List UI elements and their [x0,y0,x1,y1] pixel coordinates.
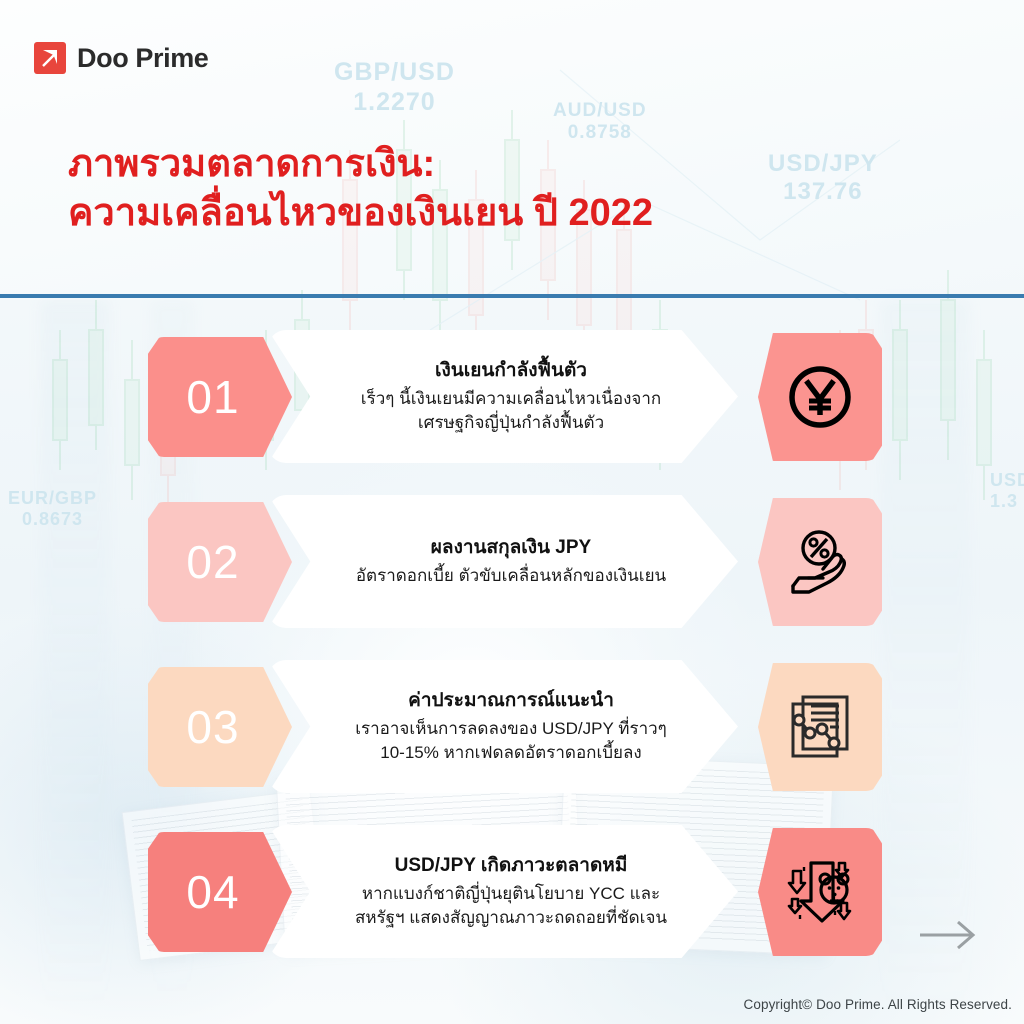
header-divider [0,294,1024,298]
item-card-01[interactable]: เงินเยนกำลังฟื้นตัว เร็วๆ นี้เงินเยนมีคว… [268,330,738,463]
item-title-02: ผลงานสกุลเงิน JPY [431,535,591,561]
list-item[interactable]: 03 ค่าประมาณการณ์แนะนำ เราอาจเห็นการลดลง… [0,660,1024,793]
yen-coin-icon [784,361,856,433]
item-number-badge-04: 04 [148,832,292,952]
item-body-line1-03: เราอาจเห็นการลดลงของ USD/JPY ที่ราวๆ [355,717,667,741]
item-card-04[interactable]: USD/JPY เกิดภาวะตลาดหมี หากแบงก์ชาติญี่ป… [268,825,738,958]
item-body-line1-01: เร็วๆ นี้เงินเยนมีความเคลื่อนไหวเนื่องจา… [361,387,661,411]
doo-prime-logo-mark-icon [34,42,66,74]
page-title: ภาพรวมตลาดการเงิน: ความเคลื่อนไหวของเงิน… [68,140,898,239]
item-card-03[interactable]: ค่าประมาณการณ์แนะนำ เราอาจเห็นการลดลงของ… [268,660,738,793]
item-body-line1-04: หากแบงก์ชาติญี่ปุ่นยุตินโยบาย YCC และ [362,882,660,906]
arrow-right-icon[interactable] [918,918,980,952]
item-number-03: 03 [186,700,239,754]
brand-logo[interactable]: Doo Prime [34,42,208,74]
page-title-line1: ภาพรวมตลาดการเงิน: [68,143,435,185]
item-number-02: 02 [186,535,239,589]
item-card-02[interactable]: ผลงานสกุลเงิน JPY อัตราดอกเบี้ย ตัวขับเค… [268,495,738,628]
watermark-quote-gbpusd: GBP/USD1.2270 [334,58,455,117]
document-line-chart-icon [784,690,856,764]
item-title-01: เงินเยนกำลังฟื้นตัว [435,358,587,384]
watermark-quote-audusd: AUD/USD0.8758 [553,100,647,145]
item-icon-badge-03 [758,663,882,791]
bear-market-down-arrow-icon [783,855,857,929]
item-icon-badge-01 [758,333,882,461]
item-body-line2-04: สหรัฐฯ แสดงสัญญาณภาวะถดถอยที่ชัดเจน [355,906,667,930]
item-number-badge-01: 01 [148,337,292,457]
page-title-line2: ความเคลื่อนไหวของเงินเยน ปี 2022 [68,189,898,238]
item-number-badge-02: 02 [148,502,292,622]
item-icon-badge-02 [758,498,882,626]
item-number-badge-03: 03 [148,667,292,787]
item-number-01: 01 [186,370,239,424]
list-item[interactable]: 04 USD/JPY เกิดภาวะตลาดหมี หากแบงก์ชาติญ… [0,825,1024,958]
item-title-03: ค่าประมาณการณ์แนะนำ [408,688,614,714]
brand-logo-text: Doo Prime [77,43,208,74]
item-body-line2-03: 10-15% หากเฟดลดอัตราดอกเบี้ยลง [380,741,641,765]
items-list: 01 เงินเยนกำลังฟื้นตัว เร็วๆ นี้เงินเยนม… [0,330,1024,990]
item-title-04: USD/JPY เกิดภาวะตลาดหมี [395,853,628,879]
item-icon-badge-04 [758,828,882,956]
list-item[interactable]: 02 ผลงานสกุลเงิน JPY อัตราดอกเบี้ย ตัวขั… [0,495,1024,628]
item-body-line1-02: อัตราดอกเบี้ย ตัวขับเคลื่อนหลักของเงินเย… [356,564,666,588]
item-body-line2-01: เศรษฐกิจญี่ปุ่นกำลังฟื้นตัว [418,411,604,435]
copyright-text: Copyright© Doo Prime. All Rights Reserve… [744,997,1013,1012]
hand-percent-icon [783,526,857,598]
list-item[interactable]: 01 เงินเยนกำลังฟื้นตัว เร็วๆ นี้เงินเยนม… [0,330,1024,463]
item-number-04: 04 [186,865,239,919]
